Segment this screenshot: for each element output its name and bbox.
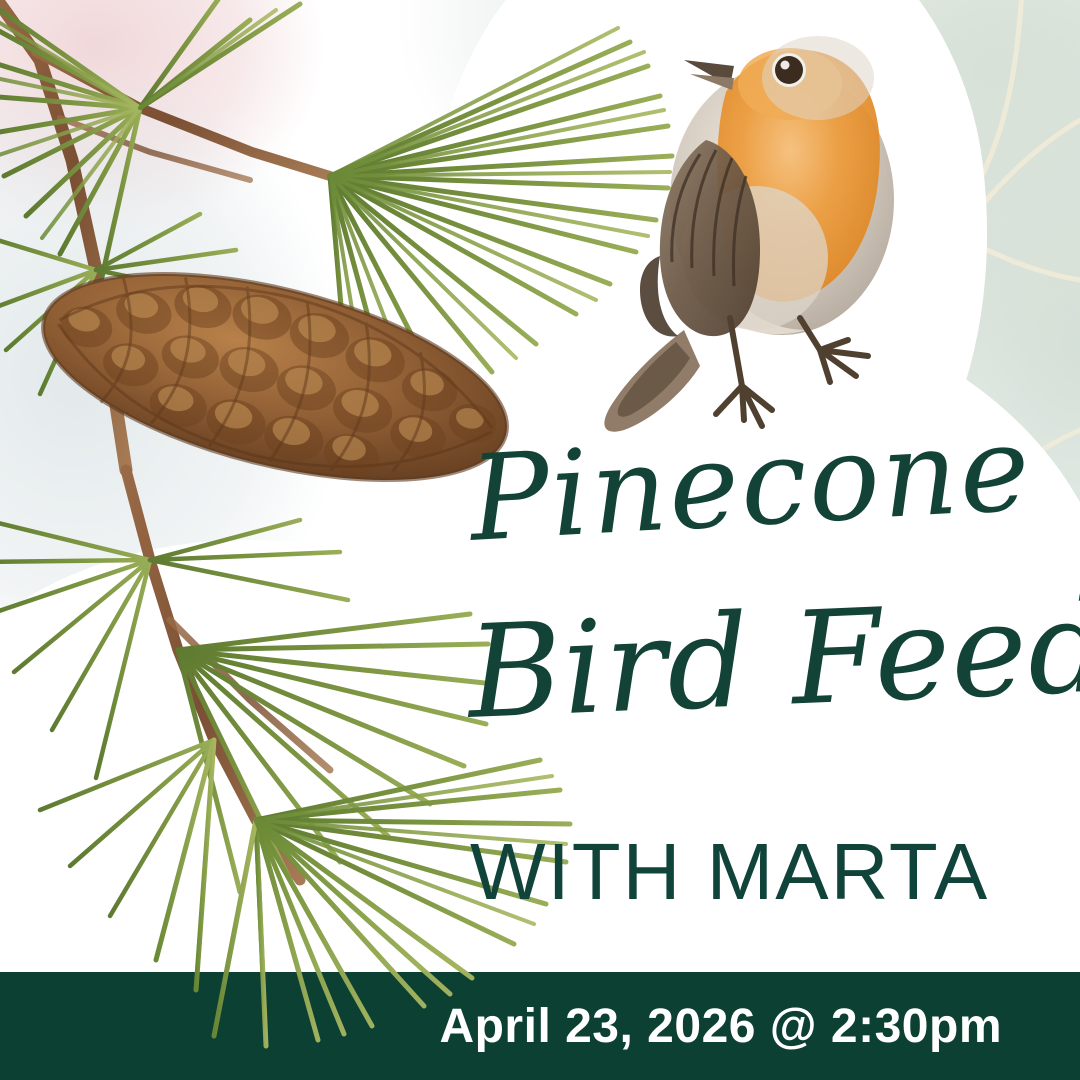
poster-canvas: Pinecone Bird Feeders WITH MARTA April 2… — [0, 0, 1080, 1080]
date-banner-text: April 23, 2026 @ 2:30pm — [0, 972, 1080, 1080]
title-script-line-2: Bird Feeders — [465, 575, 1080, 738]
title-script-line-1: Pinecone — [467, 409, 1035, 558]
subtitle-with-marta: WITH MARTA — [470, 832, 989, 912]
bird-illustration — [604, 36, 894, 432]
